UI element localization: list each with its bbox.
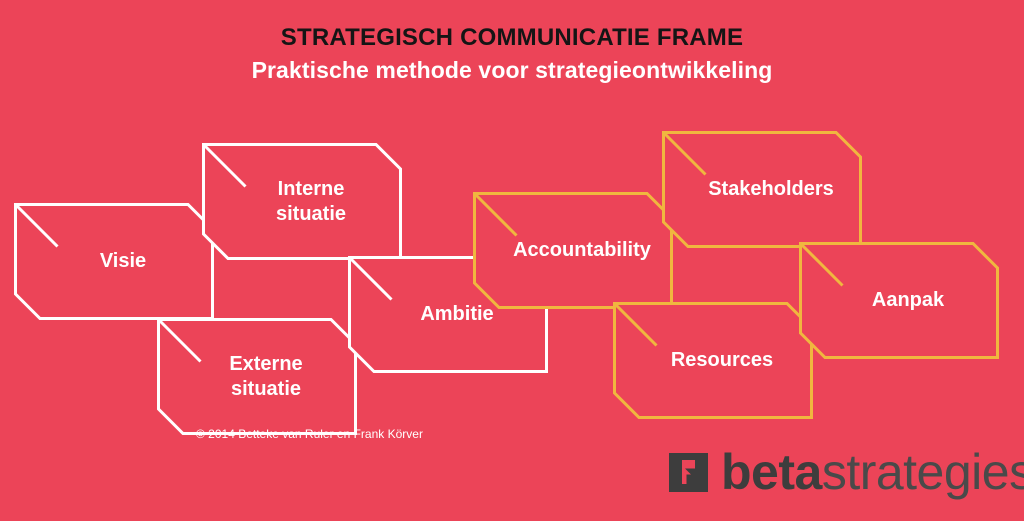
header: STRATEGISCH COMMUNICATIE FRAME Praktisch… [0,26,1024,82]
frame-box-stakeholders[interactable]: Stakeholders [662,131,862,248]
frame-box-label-stakeholders: Stakeholders [662,131,862,248]
frame-box-visie[interactable]: Visie [14,203,214,320]
frame-box-label-interne: Interne situatie [202,143,402,260]
copyright-notice: © 2014 Betteke van Ruler en Frank Körver [196,427,423,441]
frame-box-accountability[interactable]: Accountability [473,192,673,309]
frame-box-label-externe: Externe situatie [157,318,357,435]
frame-box-label-resources: Resources [613,302,813,419]
frame-box-externe[interactable]: Externe situatie [157,318,357,435]
frame-box-label-aanpak: Aanpak [799,242,999,359]
logo-beta-text: beta [721,444,822,500]
frame-box-aanpak[interactable]: Aanpak [799,242,999,359]
frame-box-label-accountability: Accountability [473,192,673,309]
frame-box-label-visie: Visie [14,203,214,320]
beta-strategies-logo: betastrategies [669,447,1024,497]
logo-strategies-text: strategies [822,444,1024,500]
frame-box-resources[interactable]: Resources [613,302,813,419]
logo-wordmark: betastrategies [721,447,1024,497]
page-subtitle: Praktische methode voor strategieontwikk… [0,59,1024,82]
page-title: STRATEGISCH COMMUNICATIE FRAME [0,26,1024,50]
frame-box-interne[interactable]: Interne situatie [202,143,402,260]
strategic-communication-frame-graphic: STRATEGISCH COMMUNICATIE FRAME Praktisch… [0,0,1024,521]
flash-bolt-mark-icon [669,453,708,492]
